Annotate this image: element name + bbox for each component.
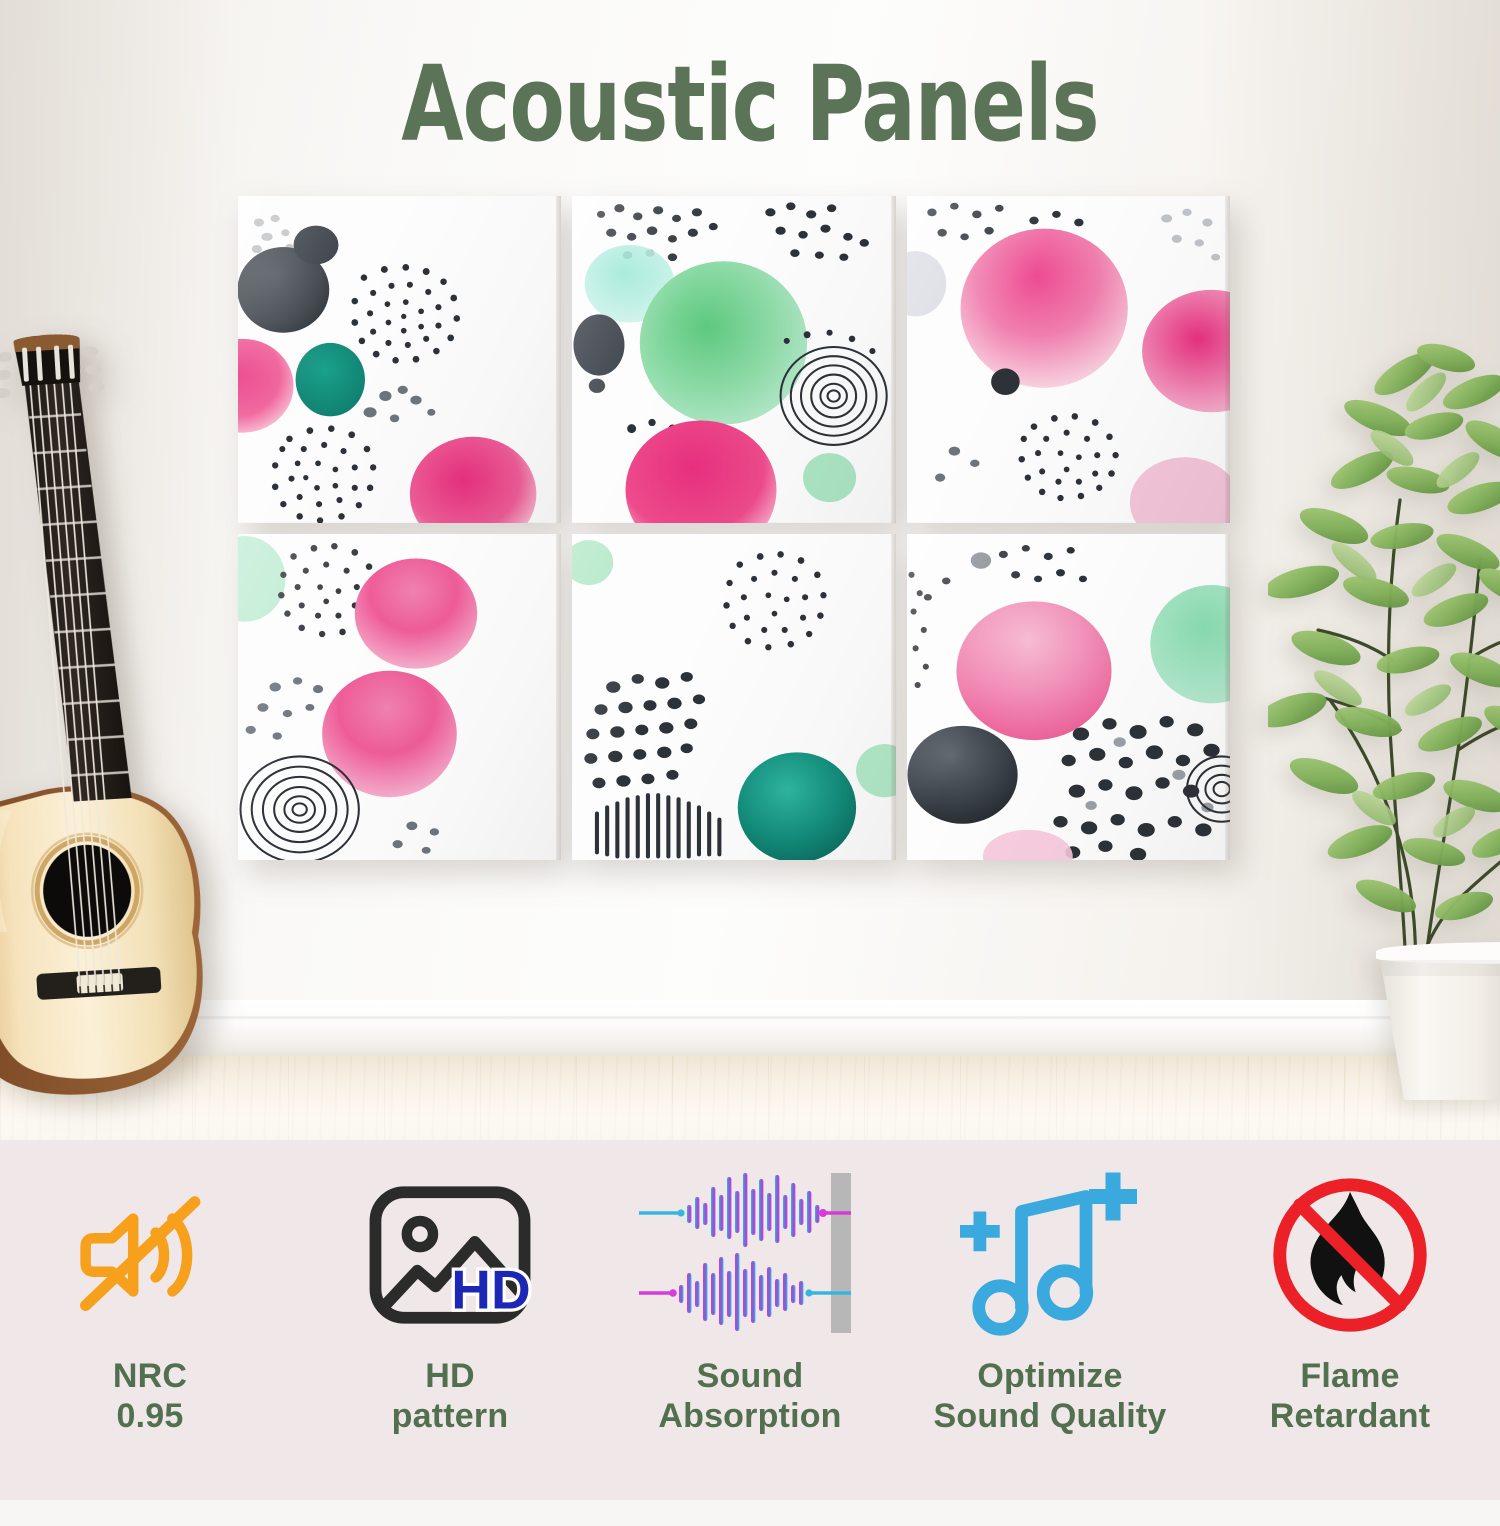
feature-label-optimize: Optimize Sound Quality <box>933 1356 1166 1436</box>
panel-top-right[interactable] <box>907 196 1230 523</box>
panel-top-center[interactable] <box>572 196 895 523</box>
feature-hd-pattern: HD HD pattern <box>300 1140 600 1526</box>
panel-edge <box>1225 534 1230 861</box>
panel-edge <box>556 196 561 523</box>
acoustic-panel-grid <box>238 196 1230 860</box>
panel-artwork <box>572 196 895 523</box>
feature-label-sound-absorption: Sound Absorption <box>658 1356 841 1436</box>
panel-artwork <box>907 196 1230 523</box>
panel-bottom-left[interactable] <box>238 534 561 861</box>
music-note-sparkle-icon <box>957 1166 1143 1344</box>
hd-badge-text: HD <box>451 1259 530 1321</box>
panel-artwork <box>238 534 561 861</box>
panel-top-left[interactable] <box>238 196 561 523</box>
panel-edge <box>891 196 896 523</box>
panel-bottom-right[interactable] <box>907 534 1230 861</box>
feature-nrc: NRC 0.95 <box>0 1140 300 1526</box>
feature-label-hd: HD pattern <box>392 1356 509 1436</box>
page-title: Acoustic Panels <box>105 52 1395 156</box>
feature-label-flame: Flame Retardant <box>1270 1356 1431 1436</box>
sparkle-plus-small <box>960 1212 1000 1252</box>
feature-optimize-sound-quality: Optimize Sound Quality <box>900 1140 1200 1526</box>
panel-artwork <box>238 196 561 523</box>
feature-band: NRC 0.95 HD HD pattern <box>0 1140 1500 1500</box>
panel-edge <box>1225 196 1230 523</box>
room-scene: Acoustic Panels <box>0 0 1500 1140</box>
sparkle-plus-large <box>1089 1173 1137 1221</box>
no-flame-icon <box>1264 1166 1436 1344</box>
panel-edge <box>891 534 896 861</box>
product-marketing-image: Acoustic Panels <box>0 0 1500 1500</box>
sound-absorption-waveform-icon <box>635 1166 865 1344</box>
feature-sound-absorption: Sound Absorption <box>600 1140 900 1526</box>
feature-flame-retardant: Flame Retardant <box>1200 1140 1500 1526</box>
feature-label-nrc: NRC 0.95 <box>113 1356 187 1436</box>
panel-artwork <box>572 534 895 861</box>
wall-bar <box>831 1173 851 1333</box>
panel-edge <box>556 534 561 861</box>
potted-plant <box>1268 330 1500 1120</box>
hd-image-icon: HD <box>365 1166 535 1344</box>
panel-bottom-center[interactable] <box>572 534 895 861</box>
muted-speaker-icon <box>66 1166 234 1344</box>
panel-artwork <box>907 534 1230 861</box>
